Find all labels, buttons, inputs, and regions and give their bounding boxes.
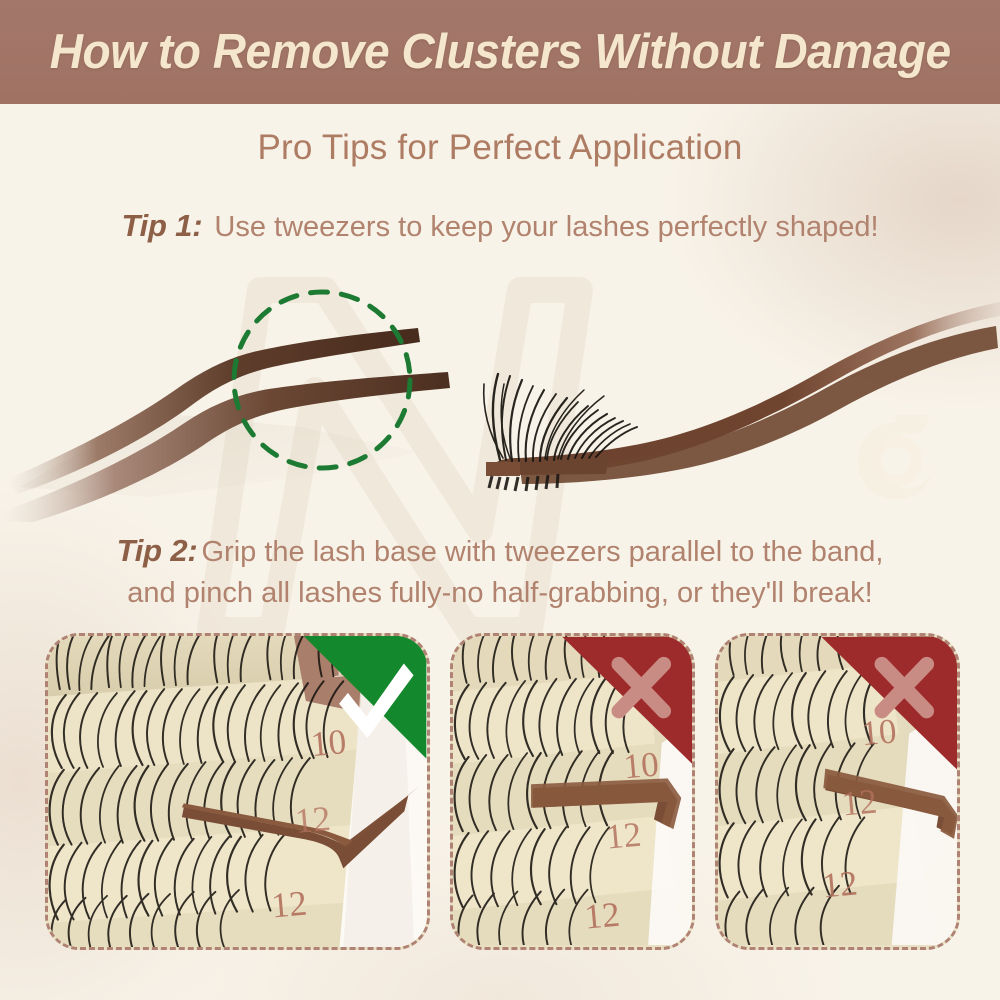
tip-1-text: Use tweezers to keep your lashes perfect… (214, 211, 878, 243)
page-title: How to Remove Clusters Without Damage (50, 24, 951, 80)
panel-correct[interactable]: 10 10 12 12 (45, 633, 430, 950)
header-bar: How to Remove Clusters Without Damage (0, 0, 1000, 104)
tweezer-right-illustration (484, 302, 1000, 491)
tip-1-label: Tip 1: (121, 208, 202, 243)
tip-2-line-1: Grip the lash base with tweezers paralle… (202, 536, 884, 568)
tip-2-line-2: and pinch all lashes fully-no half-grabb… (0, 573, 1000, 613)
illustration-band (0, 262, 1000, 522)
tip-2: Tip 2:Grip the lash base with tweezers p… (0, 530, 1000, 613)
panel-wrong-2[interactable]: 10 12 12 (715, 633, 960, 950)
badge-wrong-2 (718, 636, 957, 947)
subtitle: Pro Tips for Perfect Application (0, 128, 1000, 168)
tip-2-label: Tip 2: (117, 533, 198, 568)
panel-wrong-1[interactable]: 10 12 12 (450, 633, 695, 950)
badge-correct (48, 636, 427, 947)
badge-wrong-1 (453, 636, 692, 947)
tip-1: Tip 1: Use tweezers to keep your lashes … (0, 208, 1000, 244)
tweezer-left-illustration (2, 328, 450, 522)
comparison-panels: 10 10 12 12 (0, 633, 1000, 953)
